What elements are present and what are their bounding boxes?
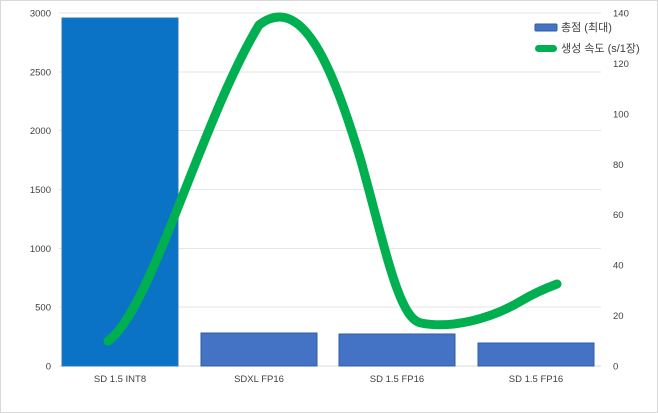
left-tick-label: 2500	[30, 67, 51, 78]
left-tick-label: 0	[46, 362, 51, 373]
legend: 총점 (최대) 생성 속도 (s/1장)	[535, 21, 640, 55]
left-tick-label: 3000	[30, 9, 51, 20]
legend-swatch-bar[interactable]	[535, 24, 557, 31]
category-label-1: SDXL FP16	[234, 374, 284, 385]
bar-1[interactable]	[201, 333, 317, 366]
right-tick-label: 20	[613, 311, 624, 322]
right-tick-label: 100	[613, 109, 629, 120]
chart-container: 3000 2500 2000 1500 1000 500 0 140 120 1…	[0, 0, 658, 413]
x-axis-categories: SD 1.5 INT8 SDXL FP16 SD 1.5 FP16 SD 1.5…	[94, 374, 563, 385]
bar-0[interactable]	[62, 18, 178, 366]
legend-label-bar: 총점 (최대)	[561, 21, 612, 34]
category-label-0: SD 1.5 INT8	[94, 374, 146, 385]
chart-plot-area: 3000 2500 2000 1500 1000 500 0 140 120 1…	[1, 1, 658, 413]
left-tick-label: 500	[35, 303, 51, 314]
right-tick-label: 120	[613, 59, 629, 70]
bar-3[interactable]	[478, 343, 594, 366]
right-tick-label: 80	[613, 160, 624, 171]
right-tick-label: 60	[613, 210, 624, 221]
legend-swatch-line[interactable]	[535, 45, 557, 52]
bar-2[interactable]	[339, 334, 455, 366]
legend-label-line: 생성 속도 (s/1장)	[561, 42, 640, 55]
category-label-2: SD 1.5 FP16	[370, 374, 424, 385]
left-tick-label: 2000	[30, 126, 51, 137]
left-axis-ticks: 3000 2500 2000 1500 1000 500 0	[30, 9, 51, 373]
right-axis-ticks: 140 120 100 80 60 40 20 0	[613, 9, 629, 373]
left-tick-label: 1500	[30, 185, 51, 196]
category-label-3: SD 1.5 FP16	[509, 374, 563, 385]
right-tick-label: 0	[613, 362, 618, 373]
left-tick-label: 1000	[30, 244, 51, 255]
right-tick-label: 140	[613, 9, 629, 20]
right-tick-label: 40	[613, 261, 624, 272]
